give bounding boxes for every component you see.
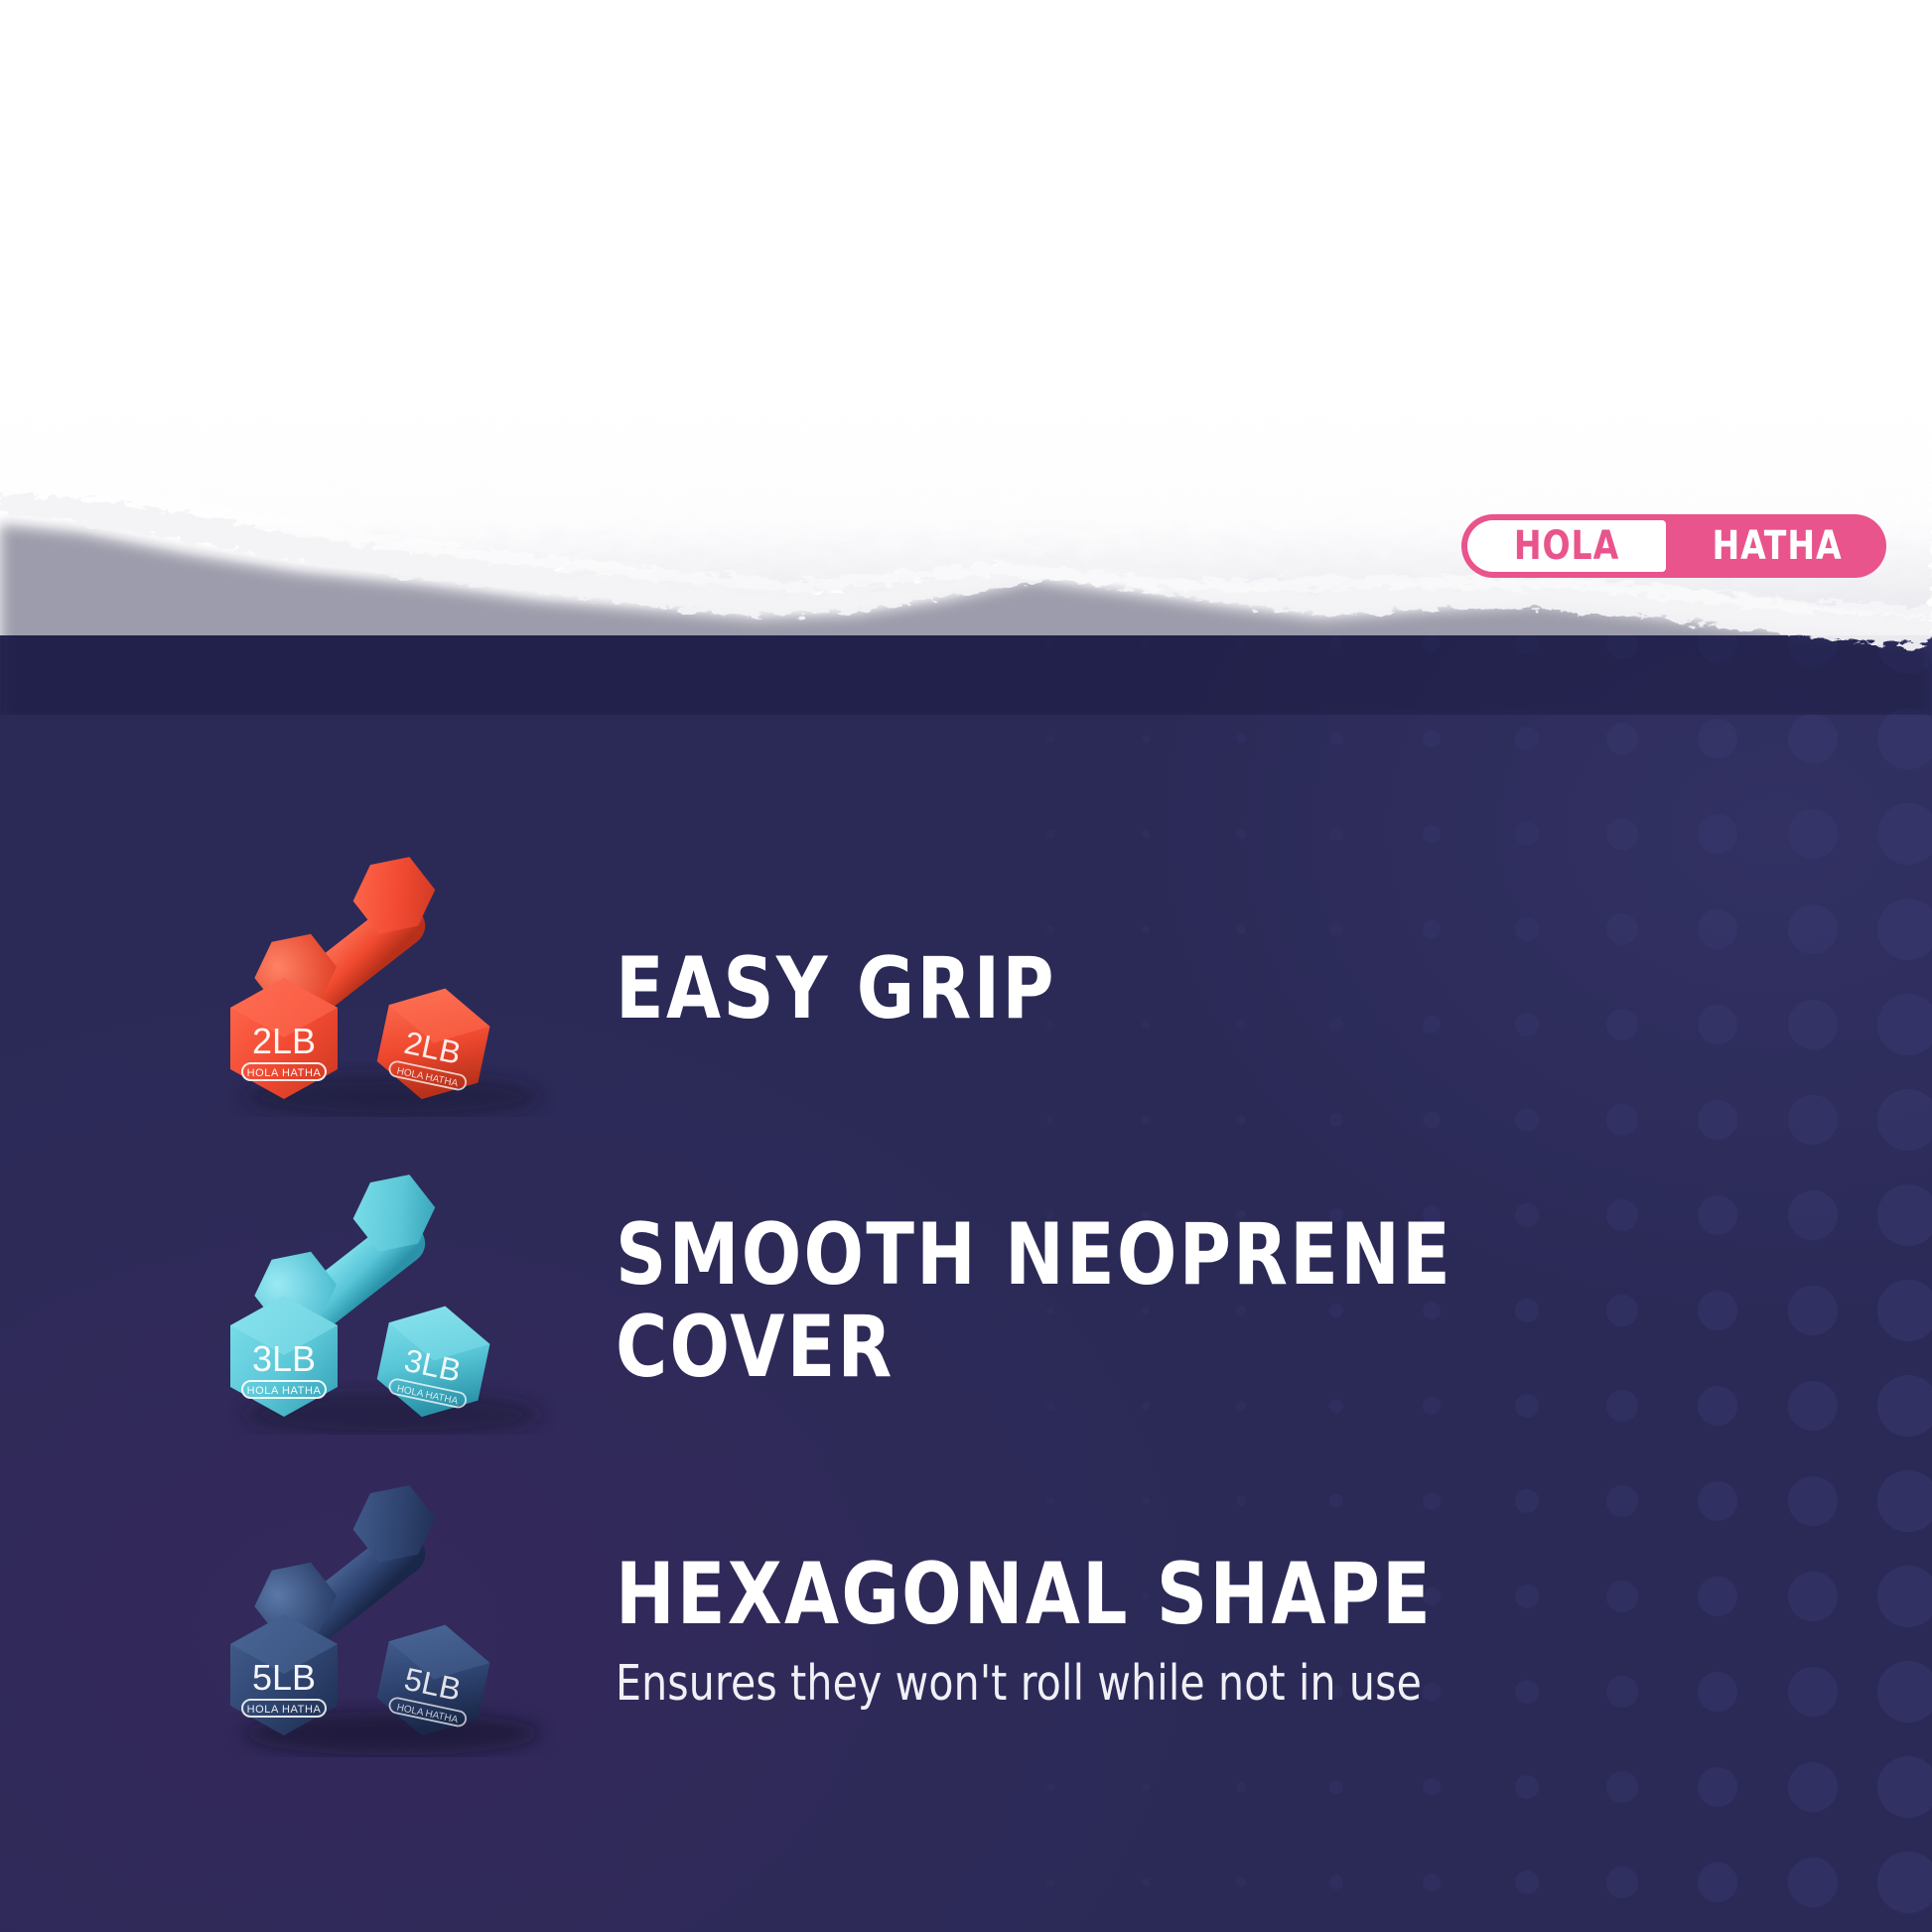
feature-smooth-neoprene-cover: SMOOTH NEOPRENE COVER	[616, 1209, 1787, 1394]
svg-text:3LB: 3LB	[252, 1338, 316, 1379]
feature-subtitle: Ensures they won't roll while not in use	[616, 1655, 1770, 1712]
logo-text-hatha: HATHA	[1682, 520, 1871, 572]
promo-graphic: Use for running, yoga, physical therapy,…	[0, 0, 1932, 1932]
feature-title: HEXAGONAL SHAPE	[616, 1549, 1757, 1641]
logo-text-hola: HOLA	[1475, 520, 1658, 572]
dumbbell-pair-3lb: 3LB HOLA HATHA 3LB HOLA HATHA	[208, 1167, 566, 1435]
svg-text:HOLA HATHA: HOLA HATHA	[247, 1385, 322, 1397]
svg-text:HOLA HATHA: HOLA HATHA	[247, 1704, 322, 1716]
feature-hexagonal-shape: HEXAGONAL SHAPE Ensures they won't roll …	[616, 1549, 1857, 1712]
dumbbell-pair-2lb: 2LB HOLA HATHA 2LB HOLA HATHA	[208, 849, 566, 1117]
brand-logo[interactable]: HOLA HATHA	[1461, 514, 1886, 578]
dumbbell-pair-5lb: 5LB HOLA HATHA 5LB HOLA HATHA	[208, 1469, 566, 1757]
svg-text:HOLA HATHA: HOLA HATHA	[247, 1067, 322, 1079]
feature-title: EASY GRIP	[616, 943, 1694, 1035]
feature-title: SMOOTH NEOPRENE COVER	[616, 1209, 1694, 1394]
svg-text:2LB: 2LB	[252, 1021, 316, 1061]
svg-text:5LB: 5LB	[252, 1657, 316, 1698]
feature-easy-grip: EASY GRIP	[616, 943, 1787, 1035]
